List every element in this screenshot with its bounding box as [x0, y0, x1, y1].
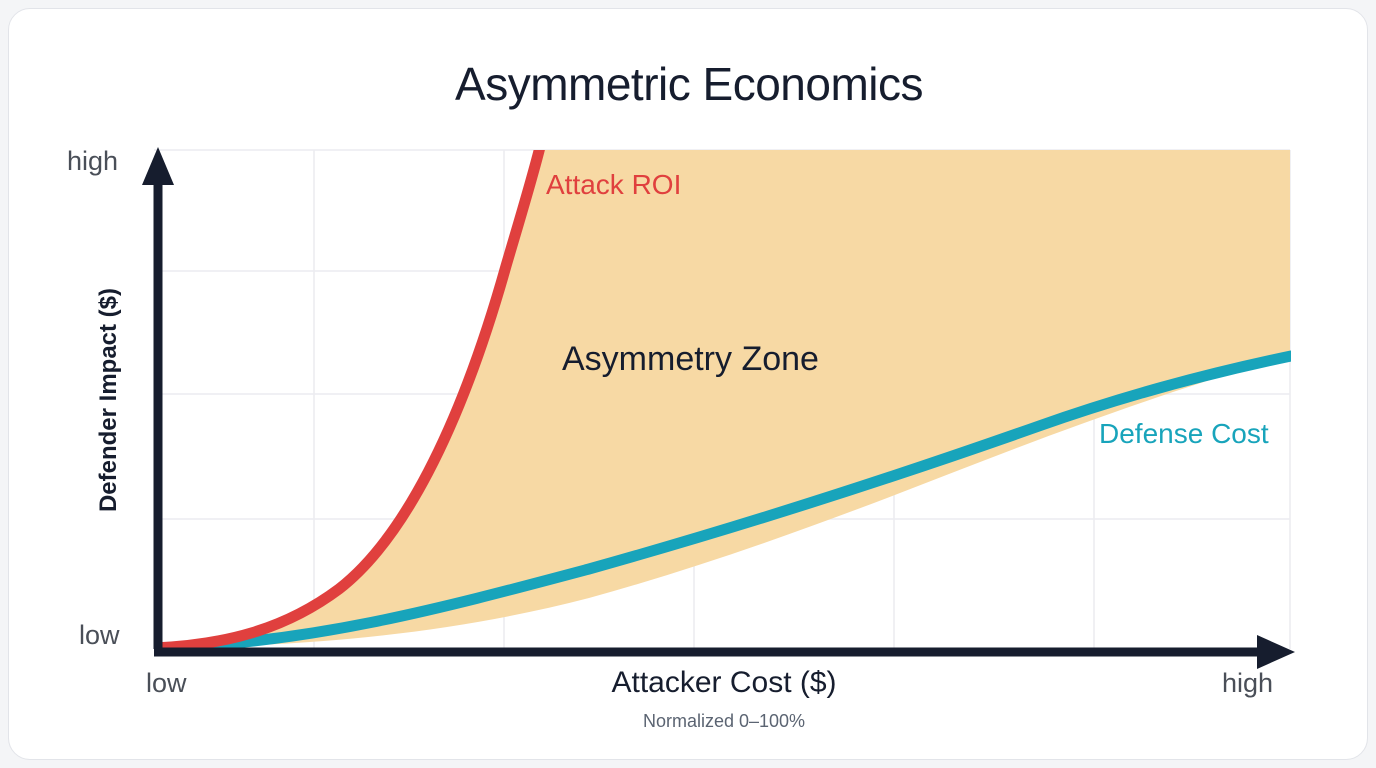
attack-roi-series-label: Attack ROI	[546, 169, 681, 201]
x-axis-title: Attacker Cost ($)	[154, 666, 1294, 700]
y-axis-title: Defender Impact ($)	[95, 270, 123, 530]
y-axis-high-label: high	[67, 146, 118, 177]
y-axis	[142, 147, 174, 649]
asymmetry-zone-label: Asymmetry Zone	[562, 340, 819, 379]
x-axis-subtitle: Normalized 0–100%	[154, 711, 1294, 732]
chart-plot	[9, 9, 1368, 760]
defense-cost-series-label: Defense Cost	[1099, 418, 1269, 450]
y-axis-low-label: low	[79, 620, 120, 651]
chart-card: Asymmetric Economics	[8, 8, 1368, 760]
